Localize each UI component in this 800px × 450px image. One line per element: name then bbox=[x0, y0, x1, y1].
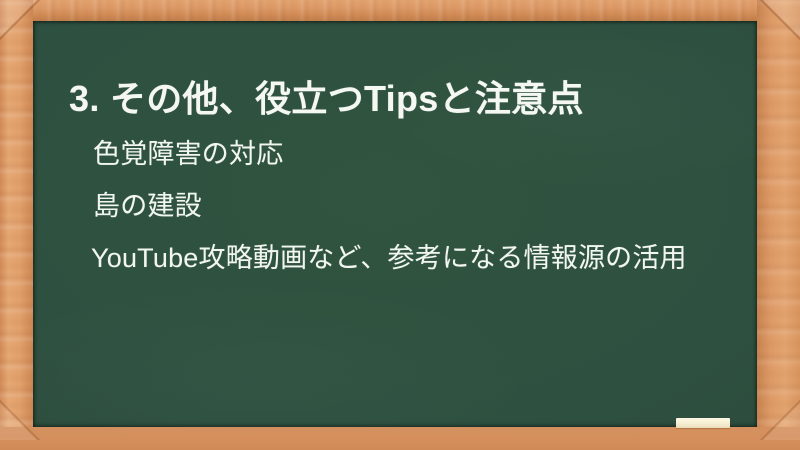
frame-rail-left bbox=[0, 0, 33, 427]
bullet-item: YouTube攻略動画など、参考になる情報源の活用 bbox=[91, 232, 791, 284]
frame-ledge-bottom bbox=[0, 427, 800, 450]
bullet-item: 色覚障害の対応 bbox=[91, 128, 791, 180]
bullet-item: 島の建設 bbox=[91, 180, 791, 232]
chalk-stick-icon bbox=[676, 418, 730, 428]
slide-title: 3. その他、役立つTipsと注意点 bbox=[69, 76, 584, 122]
chalkboard-surface: 3. その他、役立つTipsと注意点 色覚障害の対応 島の建設 YouTube攻… bbox=[33, 21, 757, 427]
chalkboard-slide: 3. その他、役立つTipsと注意点 色覚障害の対応 島の建設 YouTube攻… bbox=[0, 0, 800, 450]
frame-rail-top bbox=[0, 0, 800, 21]
bullet-list: 色覚障害の対応 島の建設 YouTube攻略動画など、参考になる情報源の活用 bbox=[91, 128, 791, 284]
